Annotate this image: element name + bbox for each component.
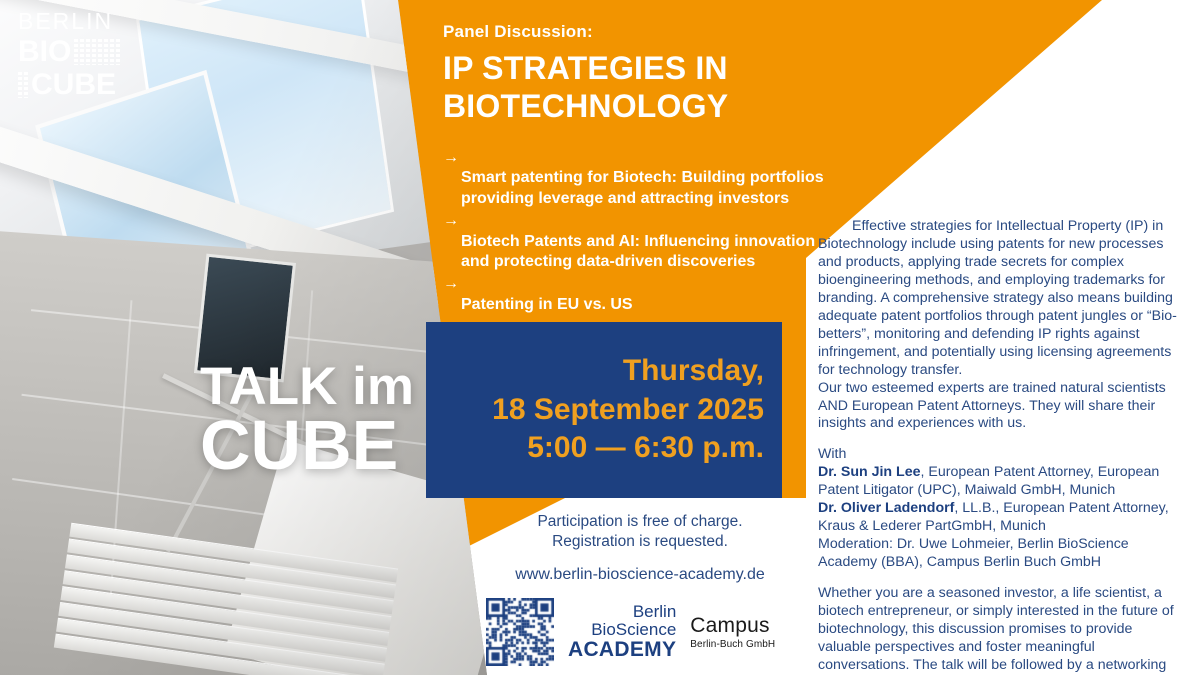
participation-line-2: Registration is requested.: [470, 532, 810, 552]
arrow-icon: →: [443, 274, 459, 295]
talk-line-1: TALK im: [200, 362, 414, 411]
berlin-bioscience-academy-logo: Berlin BioScience ACADEMY: [568, 603, 676, 662]
arrow-icon: →: [443, 148, 459, 169]
talk-line-2: CUBE: [200, 413, 414, 478]
website-link[interactable]: www.berlin-bioscience-academy.de: [470, 566, 810, 584]
arrow-icon: →: [443, 211, 459, 232]
body-paragraph-2: Our two esteemed experts are trained nat…: [818, 380, 1186, 434]
registration-block: Participation is free of charge. Registr…: [470, 512, 810, 666]
topic-text: Smart patenting for Biotech: Building po…: [461, 169, 824, 207]
page-title: IP STRATEGIES IN BIOTECHNOLOGY: [443, 50, 843, 126]
participation-line-1: Participation is free of charge.: [470, 512, 810, 532]
participation-note: Participation is free of charge. Registr…: [470, 512, 810, 552]
campus-line-1: Campus: [690, 614, 775, 637]
list-item: →Biotech Patents and AI: Influencing inn…: [443, 211, 843, 273]
event-poster: BERLIN BIO CUBE TALK im CUBE Panel Discu…: [0, 0, 1200, 675]
speaker-2-name: Dr. Oliver Ladendorf: [818, 500, 954, 516]
spacer: [818, 433, 1186, 446]
body-paragraph-1: Effective strategies for Intellectual Pr…: [818, 218, 1186, 380]
event-date-box: Thursday, 18 September 2025 5:00 — 6:30 …: [426, 322, 782, 498]
campus-line-2: Berlin-Buch GmbH: [690, 639, 775, 650]
topic-text: Patenting in EU vs. US: [461, 296, 633, 313]
event-date: 18 September 2025: [492, 391, 764, 429]
logo-bio-row: BIO: [18, 37, 120, 67]
event-time: 5:00 — 6:30 p.m.: [527, 429, 764, 467]
logo-cube-text: CUBE: [31, 70, 116, 100]
bba-line-2: BioScience: [568, 621, 676, 639]
logo-bio-text: BIO: [18, 37, 71, 67]
partner-logo-row: Berlin BioScience ACADEMY Campus Berlin-…: [470, 598, 810, 666]
description-column: Effective strategies for Intellectual Pr…: [818, 218, 1186, 675]
list-item: →Smart patenting for Biotech: Building p…: [443, 148, 843, 210]
spacer: [818, 572, 1186, 585]
moderation-line: Moderation: Dr. Uwe Lohmeier, Berlin Bio…: [818, 536, 1186, 572]
campus-berlin-buch-logo: Campus Berlin-Buch GmbH: [690, 614, 775, 650]
title-line-2: BIOTECHNOLOGY: [443, 88, 843, 126]
topic-text: Biotech Patents and AI: Influencing inno…: [461, 233, 815, 271]
barcode-icon: [74, 39, 120, 65]
title-line-1: IP STRATEGIES IN: [443, 50, 843, 88]
header-block: Panel Discussion: IP STRATEGIES IN BIOTE…: [443, 22, 843, 359]
event-day: Thursday,: [623, 352, 764, 390]
speaker-1-name: Dr. Sun Jin Lee: [818, 464, 921, 480]
qr-code[interactable]: [486, 598, 554, 666]
talk-im-cube-overlay: TALK im CUBE: [200, 362, 414, 478]
with-label: With: [818, 446, 1186, 464]
speaker-1: Dr. Sun Jin Lee, European Patent Attorne…: [818, 464, 1186, 500]
panel-discussion-kicker: Panel Discussion:: [443, 22, 843, 42]
bba-line-3: ACADEMY: [568, 639, 676, 662]
list-item: →Patenting in EU vs. US: [443, 274, 843, 316]
body-paragraph-3: Whether you are a seasoned investor, a l…: [818, 585, 1186, 675]
bba-line-1: Berlin: [568, 603, 676, 621]
logo-cube-row: CUBE: [18, 70, 120, 100]
barcode-icon: [18, 72, 28, 98]
berlin-biocube-logo: BERLIN BIO CUBE: [18, 10, 120, 100]
logo-berlin-text: BERLIN: [18, 10, 120, 33]
speaker-2: Dr. Oliver Ladendorf, LL.B., European Pa…: [818, 500, 1186, 536]
